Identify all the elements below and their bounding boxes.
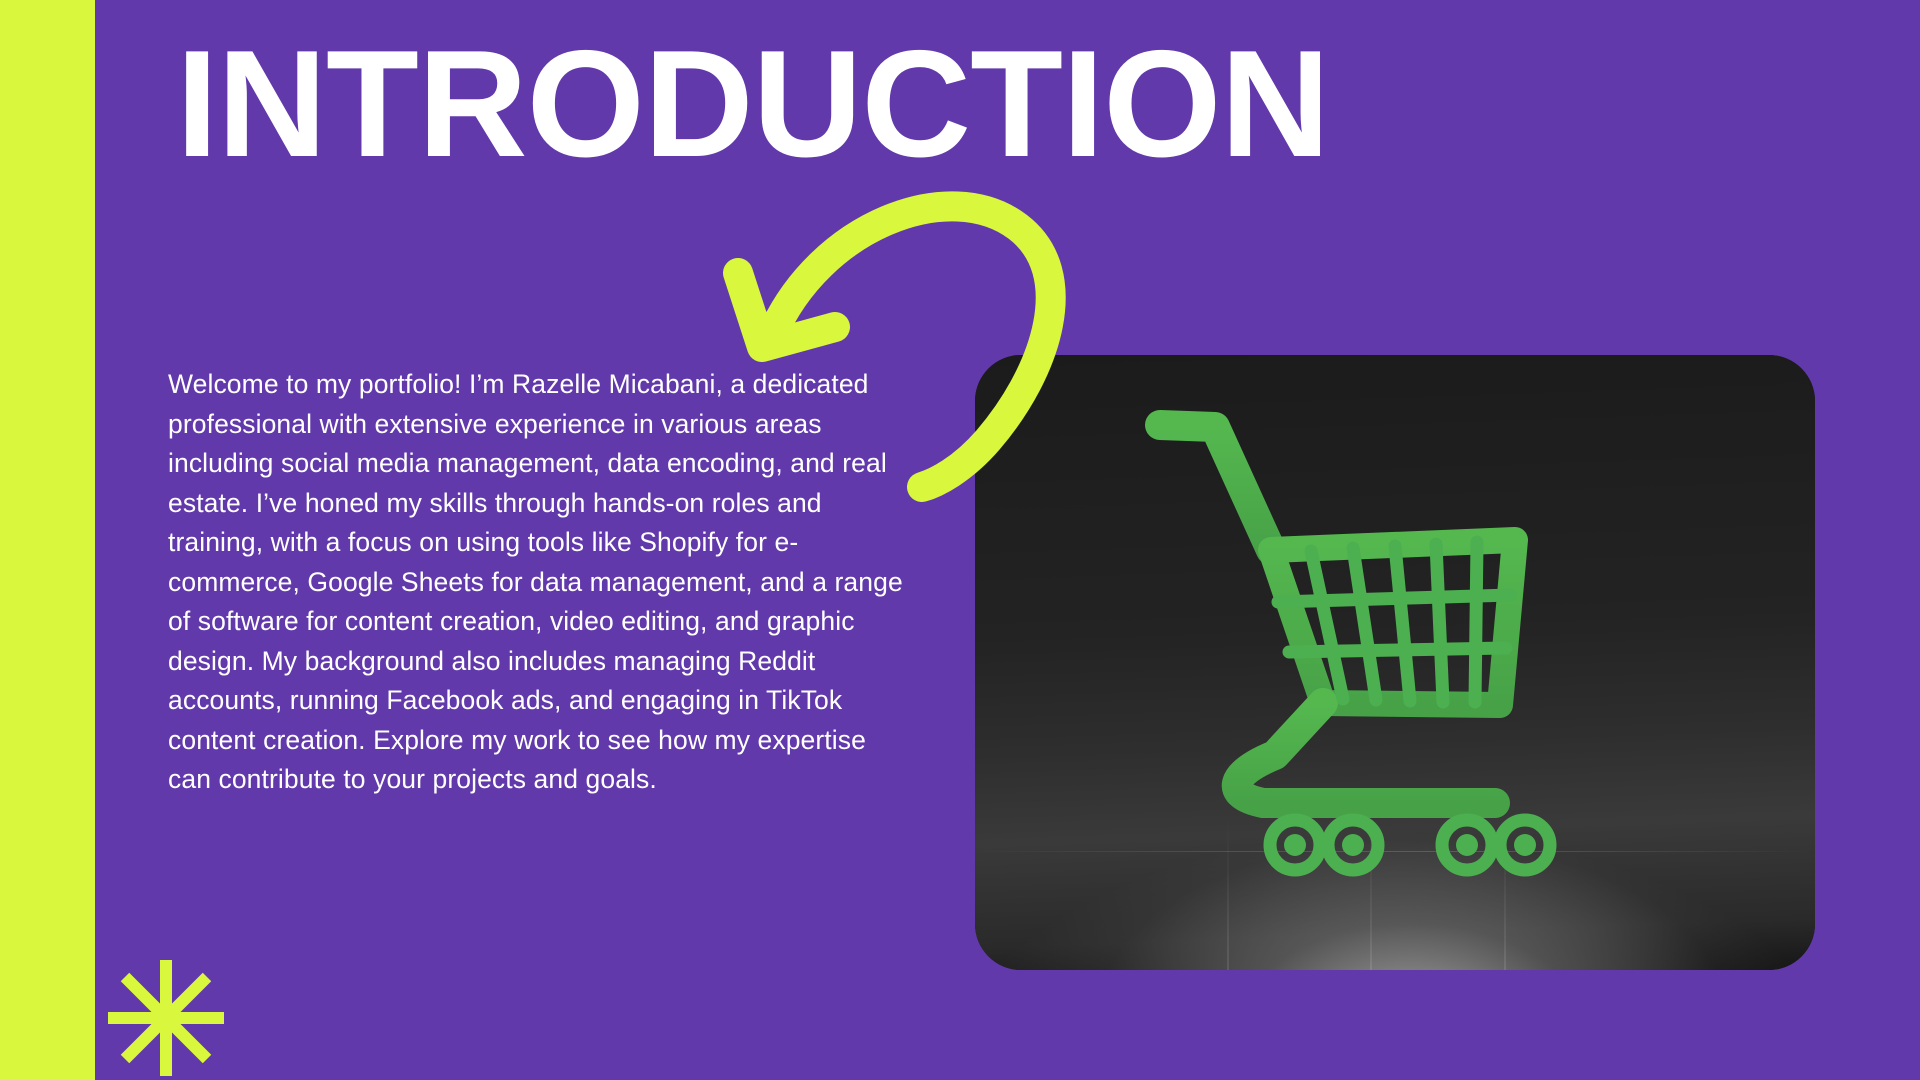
curved-arrow-icon: [700, 165, 1120, 505]
introduction-slide: INTRODUCTION Welcome to my portfolio! I’…: [0, 0, 1920, 1080]
page-title: INTRODUCTION: [176, 28, 1736, 180]
sparkle-icon: [106, 958, 226, 1078]
left-accent-bar: [0, 0, 95, 1080]
